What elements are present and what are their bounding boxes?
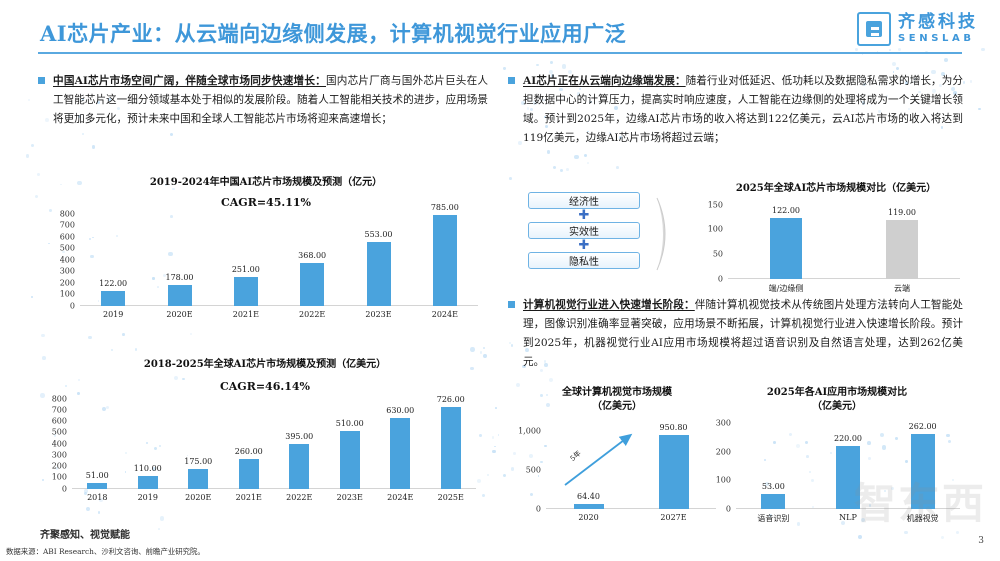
bar: 122.00端/边缘侧	[770, 218, 802, 278]
bar-value-label: 53.00	[762, 482, 785, 491]
y-axis-tick: 150	[708, 200, 728, 209]
bar: 726.002025E	[441, 407, 461, 489]
chart-title-line2: （亿美元）	[706, 400, 968, 414]
bar: 950.802027E	[659, 435, 689, 509]
bar: 630.002024E	[390, 418, 410, 489]
x-axis-tick: 2027E	[660, 513, 686, 522]
bar: 260.002021E	[239, 459, 259, 488]
plot-area: 010020030040050060070080051.002018110.00…	[72, 399, 476, 489]
bar-value-label: 785.00	[431, 203, 459, 212]
chart-title-line1: 2025年各AI应用市场规模对比	[706, 386, 968, 400]
bar-value-label: 950.80	[660, 423, 688, 432]
slide-root: AI芯片产业：从云端向边缘侧发展，计算机视觉行业应用广泛 齐感科技 SENSLA…	[0, 0, 1000, 561]
bar-value-label: 122.00	[99, 279, 127, 288]
bar-value-label: 110.00	[134, 464, 162, 473]
x-axis-tick: 2020	[578, 513, 598, 522]
x-axis-tick: 2024E	[432, 310, 458, 319]
chart-annotation-cagr: CAGR=45.11%	[46, 196, 486, 209]
y-axis-tick: 500	[52, 428, 72, 437]
y-axis-tick: 0	[718, 274, 728, 283]
bar: 553.002023E	[367, 242, 391, 306]
benefit-box-stack: 经济性 ✚ 实效性 ✚ 隐私性	[528, 192, 640, 269]
y-axis-tick: 100	[708, 225, 728, 234]
x-axis-tick: 2023E	[337, 493, 363, 502]
bullet-computer-vision: 计算机视觉行业进入快速增长阶段：伴随计算机视觉技术从传统图片处理方法转向人工智能…	[508, 296, 963, 371]
bar: 785.002024E	[433, 215, 457, 305]
x-axis-line	[80, 305, 478, 306]
bar: 220.00NLP	[836, 446, 860, 509]
chip-logo-icon	[857, 12, 891, 46]
x-axis-tick: 2022E	[286, 493, 312, 502]
chart-china-ai-chip: 2019-2024年中国AI芯片市场规模及预测（亿元） CAGR=45.11% …	[46, 176, 486, 316]
y-axis-tick: 500	[60, 244, 80, 253]
x-axis-tick: 2025E	[438, 493, 464, 502]
y-axis-tick: 200	[60, 278, 80, 287]
page-number: 3	[978, 536, 984, 546]
y-axis-tick: 0	[62, 484, 72, 493]
x-axis-tick: 2021E	[236, 493, 262, 502]
x-axis-line	[546, 508, 716, 509]
plot-area: 010020030053.00语音识别220.00NLP262.00机器视觉	[736, 423, 960, 509]
x-axis-tick: NLP	[839, 513, 857, 522]
x-axis-tick: 机器视觉	[907, 513, 939, 524]
x-axis-tick: 2020E	[166, 310, 192, 319]
bar-value-label: 510.00	[336, 419, 364, 428]
y-axis-tick: 800	[60, 209, 80, 218]
x-axis-tick: 语音识别	[757, 513, 789, 524]
chart-annotation-cagr: CAGR=46.14%	[40, 380, 490, 393]
bar-value-label: 262.00	[909, 422, 937, 431]
y-axis-tick: 100	[716, 476, 736, 485]
bar-value-label: 630.00	[386, 406, 414, 415]
y-axis-tick: 300	[60, 267, 80, 276]
tagline: 齐聚感知、视觉赋能	[40, 526, 130, 541]
bar-value-label: 220.00	[834, 434, 862, 443]
bar: 251.002021E	[234, 277, 258, 306]
bullet-text: 计算机视觉行业进入快速增长阶段：伴随计算机视觉技术从传统图片处理方法转向人工智能…	[523, 296, 963, 371]
y-axis-tick: 50	[713, 249, 728, 258]
chart-title: 2018-2025年全球AI芯片市场规模及预测（亿美元）	[40, 358, 490, 372]
bar-value-label: 260.00	[235, 447, 263, 456]
y-axis-tick: 700	[52, 405, 72, 414]
y-axis-tick: 800	[52, 394, 72, 403]
bar-value-label: 553.00	[365, 230, 393, 239]
title-divider	[38, 52, 962, 54]
y-axis-tick: 700	[60, 221, 80, 230]
bullet-heading: 中国AI芯片市场空间广阔，伴随全球市场同步快速增长：	[53, 75, 326, 87]
x-axis-tick: 2022E	[299, 310, 325, 319]
y-axis-tick: 0	[536, 505, 546, 514]
page-title: AI芯片产业：从云端向边缘侧发展，计算机视觉行业应用广泛	[40, 18, 626, 48]
bar: 395.002022E	[289, 444, 309, 488]
logo-text-group: 齐感科技 SENSLAB	[898, 14, 978, 44]
y-axis-tick: 0	[70, 301, 80, 310]
x-axis-tick: 端/边缘侧	[769, 283, 804, 294]
bar-value-label: 64.40	[577, 492, 600, 501]
source-note: 数据来源：ABI Research、沙利文咨询、前瞻产业研究院。	[6, 546, 205, 557]
bar-value-label: 395.00	[285, 432, 313, 441]
bullet-marker-icon	[508, 77, 515, 84]
benefit-box-economy: 经济性	[528, 192, 640, 209]
x-axis-tick: 2018	[87, 493, 107, 502]
plot-area: 0100200300400500600700800122.002019178.0…	[80, 214, 478, 306]
bar: 51.002018	[87, 483, 107, 489]
y-axis-tick: 600	[52, 417, 72, 426]
y-axis-tick: 1,000	[518, 426, 546, 435]
y-axis-tick: 300	[716, 419, 736, 428]
bar: 53.00语音识别	[761, 494, 785, 509]
x-axis-tick: 2019	[103, 310, 123, 319]
bar: 64.402020	[574, 504, 604, 509]
plus-icon: ✚	[528, 239, 640, 252]
x-axis-tick: 2019	[138, 493, 158, 502]
benefit-box-effectiveness: 实效性	[528, 222, 640, 239]
y-axis-tick: 300	[52, 450, 72, 459]
bar-value-label: 119.00	[888, 208, 916, 217]
x-axis-line	[728, 278, 960, 279]
bar: 119.00云端	[886, 220, 918, 279]
y-axis-tick: 400	[52, 439, 72, 448]
x-axis-tick: 2024E	[387, 493, 413, 502]
bar: 175.002020E	[188, 469, 208, 489]
bar-value-label: 251.00	[232, 265, 260, 274]
y-axis-tick: 0	[726, 505, 736, 514]
bar: 368.002022E	[300, 263, 324, 305]
x-axis-tick: 2023E	[365, 310, 391, 319]
y-axis-tick: 600	[60, 232, 80, 241]
bar: 178.002020E	[168, 285, 192, 305]
chart-title-line1: 全球计算机视觉市场规模	[512, 386, 722, 400]
chart-title: 2019-2024年中国AI芯片市场规模及预测（亿元）	[46, 176, 486, 190]
bullet-marker-icon	[508, 301, 515, 308]
bullet-text: 中国AI芯片市场空间广阔，伴随全球市场同步快速增长：国内芯片厂商与国外芯片巨头在…	[53, 72, 488, 129]
logo-name-cn: 齐感科技	[898, 14, 978, 31]
bar-value-label: 175.00	[184, 457, 212, 466]
bullet-cloud-to-edge: AI芯片正在从云端向边缘端发展：随着行业对低延迟、低功耗以及数据隐私需求的增长，…	[508, 72, 963, 147]
x-axis-tick: 云端	[894, 283, 910, 294]
bar-value-label: 368.00	[298, 251, 326, 260]
bullet-marker-icon	[38, 77, 45, 84]
bullet-text: AI芯片正在从云端向边缘端发展：随着行业对低延迟、低功耗以及数据隐私需求的增长，…	[523, 72, 963, 147]
y-axis-tick: 100	[52, 473, 72, 482]
bar: 510.002023E	[340, 431, 360, 488]
logo-name-en: SENSLAB	[898, 34, 978, 44]
chart-ai-application-2025: 2025年各AI应用市场规模对比 （亿美元） 010020030053.00语音…	[706, 386, 968, 516]
y-axis-tick: 200	[716, 447, 736, 456]
chart-edge-vs-cloud: 2025年全球AI芯片市场规模对比（亿美元） 050100150122.00端/…	[700, 182, 972, 294]
bar-value-label: 726.00	[437, 395, 465, 404]
x-axis-line	[72, 488, 476, 489]
bar-value-label: 51.00	[86, 471, 109, 480]
bullet-china-market: 中国AI芯片市场空间广阔，伴随全球市场同步快速增长：国内芯片厂商与国外芯片巨头在…	[38, 72, 488, 129]
y-axis-tick: 500	[526, 465, 546, 474]
company-logo: 齐感科技 SENSLAB	[857, 12, 978, 46]
chevron-right-icon	[655, 196, 677, 272]
chart-title-line2: （亿美元）	[512, 400, 722, 414]
bar: 122.002019	[101, 291, 125, 305]
bar-value-label: 178.00	[166, 273, 194, 282]
x-axis-tick: 2020E	[185, 493, 211, 502]
bullet-heading: AI芯片正在从云端向边缘端发展：	[523, 75, 686, 87]
chart-title: 2025年全球AI芯片市场规模对比（亿美元）	[700, 182, 972, 196]
bar: 262.00机器视觉	[911, 434, 935, 509]
y-axis-tick: 100	[60, 290, 80, 299]
y-axis-tick: 400	[60, 255, 80, 264]
chart-global-computer-vision: 全球计算机视觉市场规模 （亿美元） 5年 05001,00064.4020209…	[512, 386, 722, 516]
chart-global-ai-chip: 2018-2025年全球AI芯片市场规模及预测（亿美元） CAGR=46.14%…	[40, 358, 490, 518]
bullet-heading: 计算机视觉行业进入快速增长阶段：	[523, 299, 695, 311]
bar-value-label: 122.00	[772, 206, 800, 215]
plot-area: 5年 05001,00064.402020950.802027E	[546, 423, 716, 509]
bar: 110.002019	[138, 476, 158, 488]
plot-area: 050100150122.00端/边缘侧119.00云端	[728, 205, 960, 279]
benefit-box-privacy: 隐私性	[528, 252, 640, 269]
plus-icon: ✚	[528, 209, 640, 222]
y-axis-tick: 200	[52, 462, 72, 471]
x-axis-tick: 2021E	[233, 310, 259, 319]
